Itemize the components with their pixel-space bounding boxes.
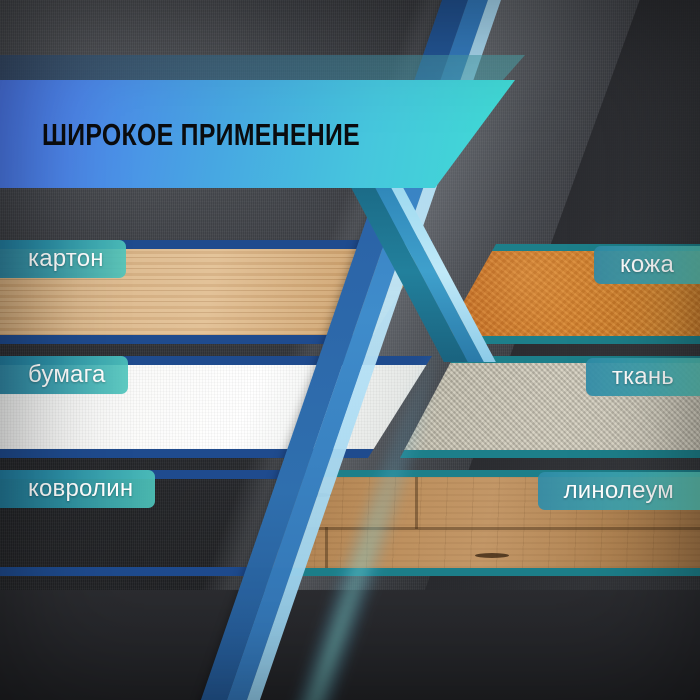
plank-seam [325,527,328,576]
plank-seam [415,477,418,529]
material-label-cardboard: картон [0,240,126,278]
material-label-carpet: ковролин [0,470,155,508]
material-label-linoleum: линолеум [538,472,700,510]
title-banner: ШИРОКОЕ ПРИМЕНЕНИЕ [0,80,515,188]
plank-seam [265,527,700,530]
material-label-text: бумага [28,361,106,389]
material-label-text: картон [28,245,104,273]
background-bottom-band [0,590,700,700]
promo-graphic: ШИРОКОЕ ПРИМЕНЕНИЕ картон бумага ковроли… [0,0,700,700]
page-title: ШИРОКОЕ ПРИМЕНЕНИЕ [42,119,360,150]
material-label-text: линолеум [564,477,674,505]
material-label-text: ковролин [28,475,133,503]
material-label-text: ткань [612,363,674,391]
material-label-paper: бумага [0,356,128,394]
title-banner-accent-strip [0,55,525,80]
wood-knot [305,493,331,497]
material-label-fabric: ткань [586,358,700,396]
material-label-text: кожа [620,251,674,279]
material-label-leather: кожа [594,246,700,284]
wood-knot [475,553,509,558]
